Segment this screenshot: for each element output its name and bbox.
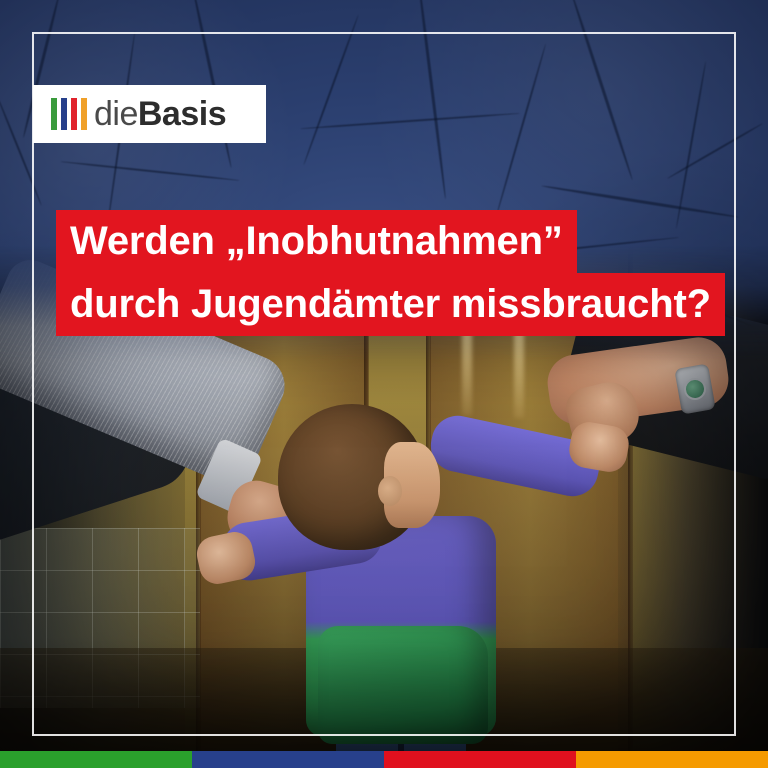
color-bar-orange bbox=[576, 751, 768, 768]
child-ear bbox=[378, 476, 402, 506]
color-bar-red bbox=[384, 751, 576, 768]
color-bar-green bbox=[0, 751, 192, 768]
logo-diebasis: dieBasis bbox=[33, 85, 266, 143]
logo-bar-green bbox=[51, 98, 57, 130]
logo-word-basis: Basis bbox=[138, 95, 226, 133]
headline-block: Werden „Inobhutnahmen” durch Jugendämter… bbox=[56, 210, 725, 336]
brand-color-bar bbox=[0, 751, 768, 768]
logo-bar-red bbox=[71, 98, 77, 130]
headline-line-1: Werden „Inobhutnahmen” bbox=[56, 210, 577, 273]
color-bar-blue bbox=[192, 751, 384, 768]
logo-bar-orange bbox=[81, 98, 87, 130]
logo-bars-icon bbox=[51, 98, 87, 130]
logo-bar-blue bbox=[61, 98, 67, 130]
poster-canvas: dieBasis Werden „Inobhutnahmen” durch Ju… bbox=[0, 0, 768, 768]
child-sweater-green-section bbox=[318, 626, 488, 744]
logo-word-die: die bbox=[94, 95, 138, 133]
headline-line-2: durch Jugendämter missbraucht? bbox=[56, 273, 725, 336]
wristwatch-face bbox=[682, 376, 707, 401]
logo-wordmark: dieBasis bbox=[94, 97, 226, 131]
